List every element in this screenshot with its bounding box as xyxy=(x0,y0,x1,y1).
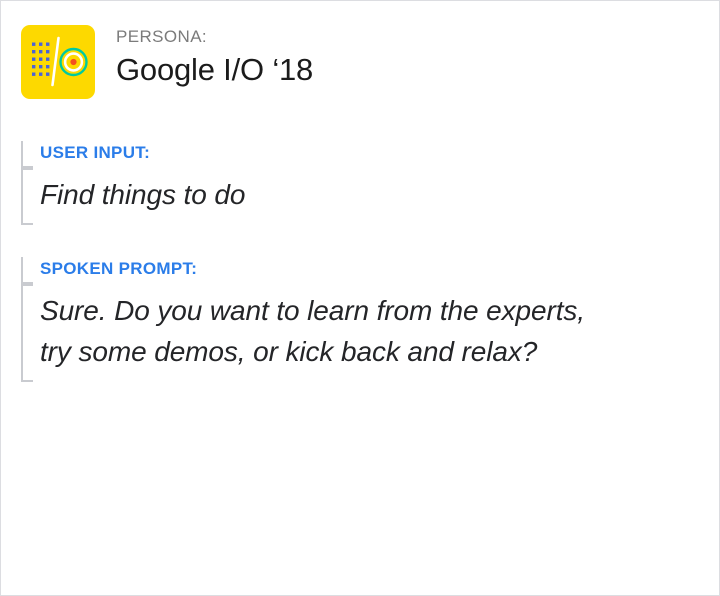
persona-text: PERSONA: Google I/O ‘18 xyxy=(116,25,313,90)
spoken-prompt-quote-row: Sure. Do you want to learn from the expe… xyxy=(21,284,585,382)
spoken-prompt-line-1: Sure. Do you want to learn from the expe… xyxy=(40,290,585,331)
spoken-prompt-line-2: try some demos, or kick back and relax? xyxy=(40,331,585,372)
spoken-prompt-label: SPOKEN PROMPT: xyxy=(40,258,197,280)
bracket-quote-icon xyxy=(21,284,33,382)
bracket-label-icon xyxy=(21,141,33,168)
persona-name: Google I/O ‘18 xyxy=(116,50,313,90)
user-input-quote-row: Find things to do xyxy=(21,168,245,225)
bracket-quote-icon xyxy=(21,168,33,225)
persona-label: PERSONA: xyxy=(116,26,313,48)
user-input-label-row: USER INPUT: xyxy=(21,141,245,168)
spoken-prompt-text: Sure. Do you want to learn from the expe… xyxy=(40,290,585,372)
user-input-label: USER INPUT: xyxy=(40,142,150,164)
user-input-block: USER INPUT: Find things to do xyxy=(21,141,245,225)
google-io-logo-icon xyxy=(21,25,95,99)
user-input-text: Find things to do xyxy=(40,174,245,215)
spoken-prompt-label-row: SPOKEN PROMPT: xyxy=(21,257,585,284)
persona-card: PERSONA: Google I/O ‘18 USER INPUT: Find… xyxy=(0,0,720,596)
persona-header: PERSONA: Google I/O ‘18 xyxy=(21,25,313,99)
user-input-line-1: Find things to do xyxy=(40,179,245,210)
spoken-prompt-block: SPOKEN PROMPT: Sure. Do you want to lear… xyxy=(21,257,585,382)
bracket-label-icon xyxy=(21,257,33,284)
